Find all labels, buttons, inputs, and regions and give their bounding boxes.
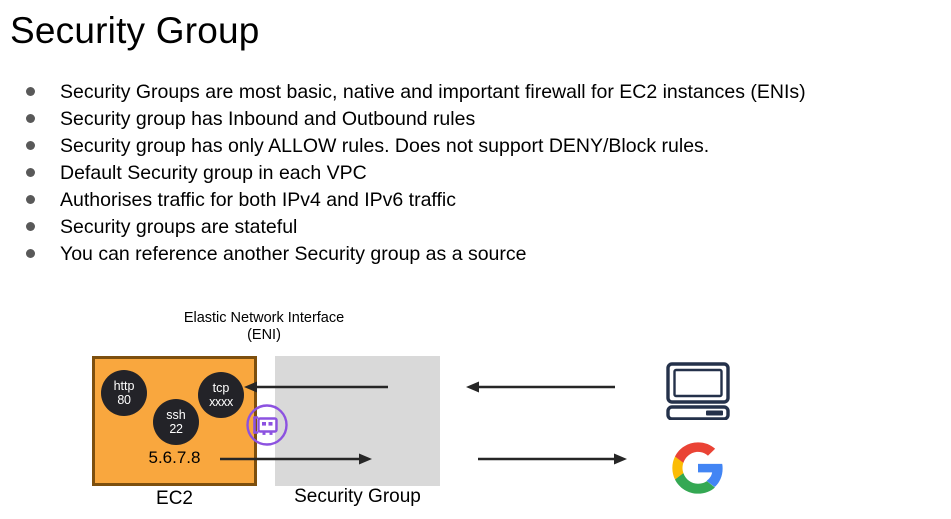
eni-caption-line1: Elastic Network Interface xyxy=(164,310,364,327)
security-group-caption: Security Group xyxy=(275,486,440,508)
port-protocol-label: tcp xyxy=(213,381,230,395)
architecture-diagram: Elastic Network Interface (ENI) http 80 … xyxy=(0,296,951,519)
bullet-dot-icon xyxy=(26,249,35,258)
port-number-label: 80 xyxy=(117,393,130,407)
arrow-inbound-inner xyxy=(240,376,390,398)
list-item: Security group has only ALLOW rules. Doe… xyxy=(18,133,948,160)
bullet-dot-icon xyxy=(26,87,35,96)
bullet-list: Security Groups are most basic, native a… xyxy=(18,79,948,268)
list-item-label: Security group has Inbound and Outbound … xyxy=(60,106,475,133)
arrow-inbound-outer xyxy=(462,376,617,398)
eni-caption-line2: (ENI) xyxy=(164,327,364,344)
arrow-outbound-inner xyxy=(218,448,376,470)
list-item-label: Security Groups are most basic, native a… xyxy=(60,79,806,106)
port-protocol-label: http xyxy=(114,379,135,393)
port-bubble-tcp: tcp xxxx xyxy=(198,372,244,418)
list-item: Security Groups are most basic, native a… xyxy=(18,79,948,106)
list-item: You can reference another Security group… xyxy=(18,241,948,268)
list-item-label: Security groups are stateful xyxy=(60,214,297,241)
list-item-label: You can reference another Security group… xyxy=(60,241,527,268)
bullet-dot-icon xyxy=(26,195,35,204)
ec2-caption: EC2 xyxy=(92,488,257,510)
google-logo-icon xyxy=(670,440,726,496)
list-item-label: Security group has only ALLOW rules. Doe… xyxy=(60,133,709,160)
list-item: Authorises traffic for both IPv4 and IPv… xyxy=(18,187,948,214)
bullet-dot-icon xyxy=(26,222,35,231)
port-bubble-http: http 80 xyxy=(101,370,147,416)
arrow-outbound-outer xyxy=(476,448,631,470)
port-number-label: xxxx xyxy=(209,395,233,409)
port-bubble-ssh: ssh 22 xyxy=(153,399,199,445)
network-interface-card-icon xyxy=(246,404,288,446)
port-number-label: 22 xyxy=(169,422,182,436)
port-protocol-label: ssh xyxy=(166,408,185,422)
list-item: Default Security group in each VPC xyxy=(18,160,948,187)
list-item: Security group has Inbound and Outbound … xyxy=(18,106,948,133)
bullet-dot-icon xyxy=(26,114,35,123)
eni-caption: Elastic Network Interface (ENI) xyxy=(164,310,364,344)
list-item-label: Authorises traffic for both IPv4 and IPv… xyxy=(60,187,456,214)
bullet-dot-icon xyxy=(26,168,35,177)
computer-icon xyxy=(665,362,731,420)
page-title: Security Group xyxy=(10,8,260,54)
bullet-dot-icon xyxy=(26,141,35,150)
list-item-label: Default Security group in each VPC xyxy=(60,160,367,187)
list-item: Security groups are stateful xyxy=(18,214,948,241)
